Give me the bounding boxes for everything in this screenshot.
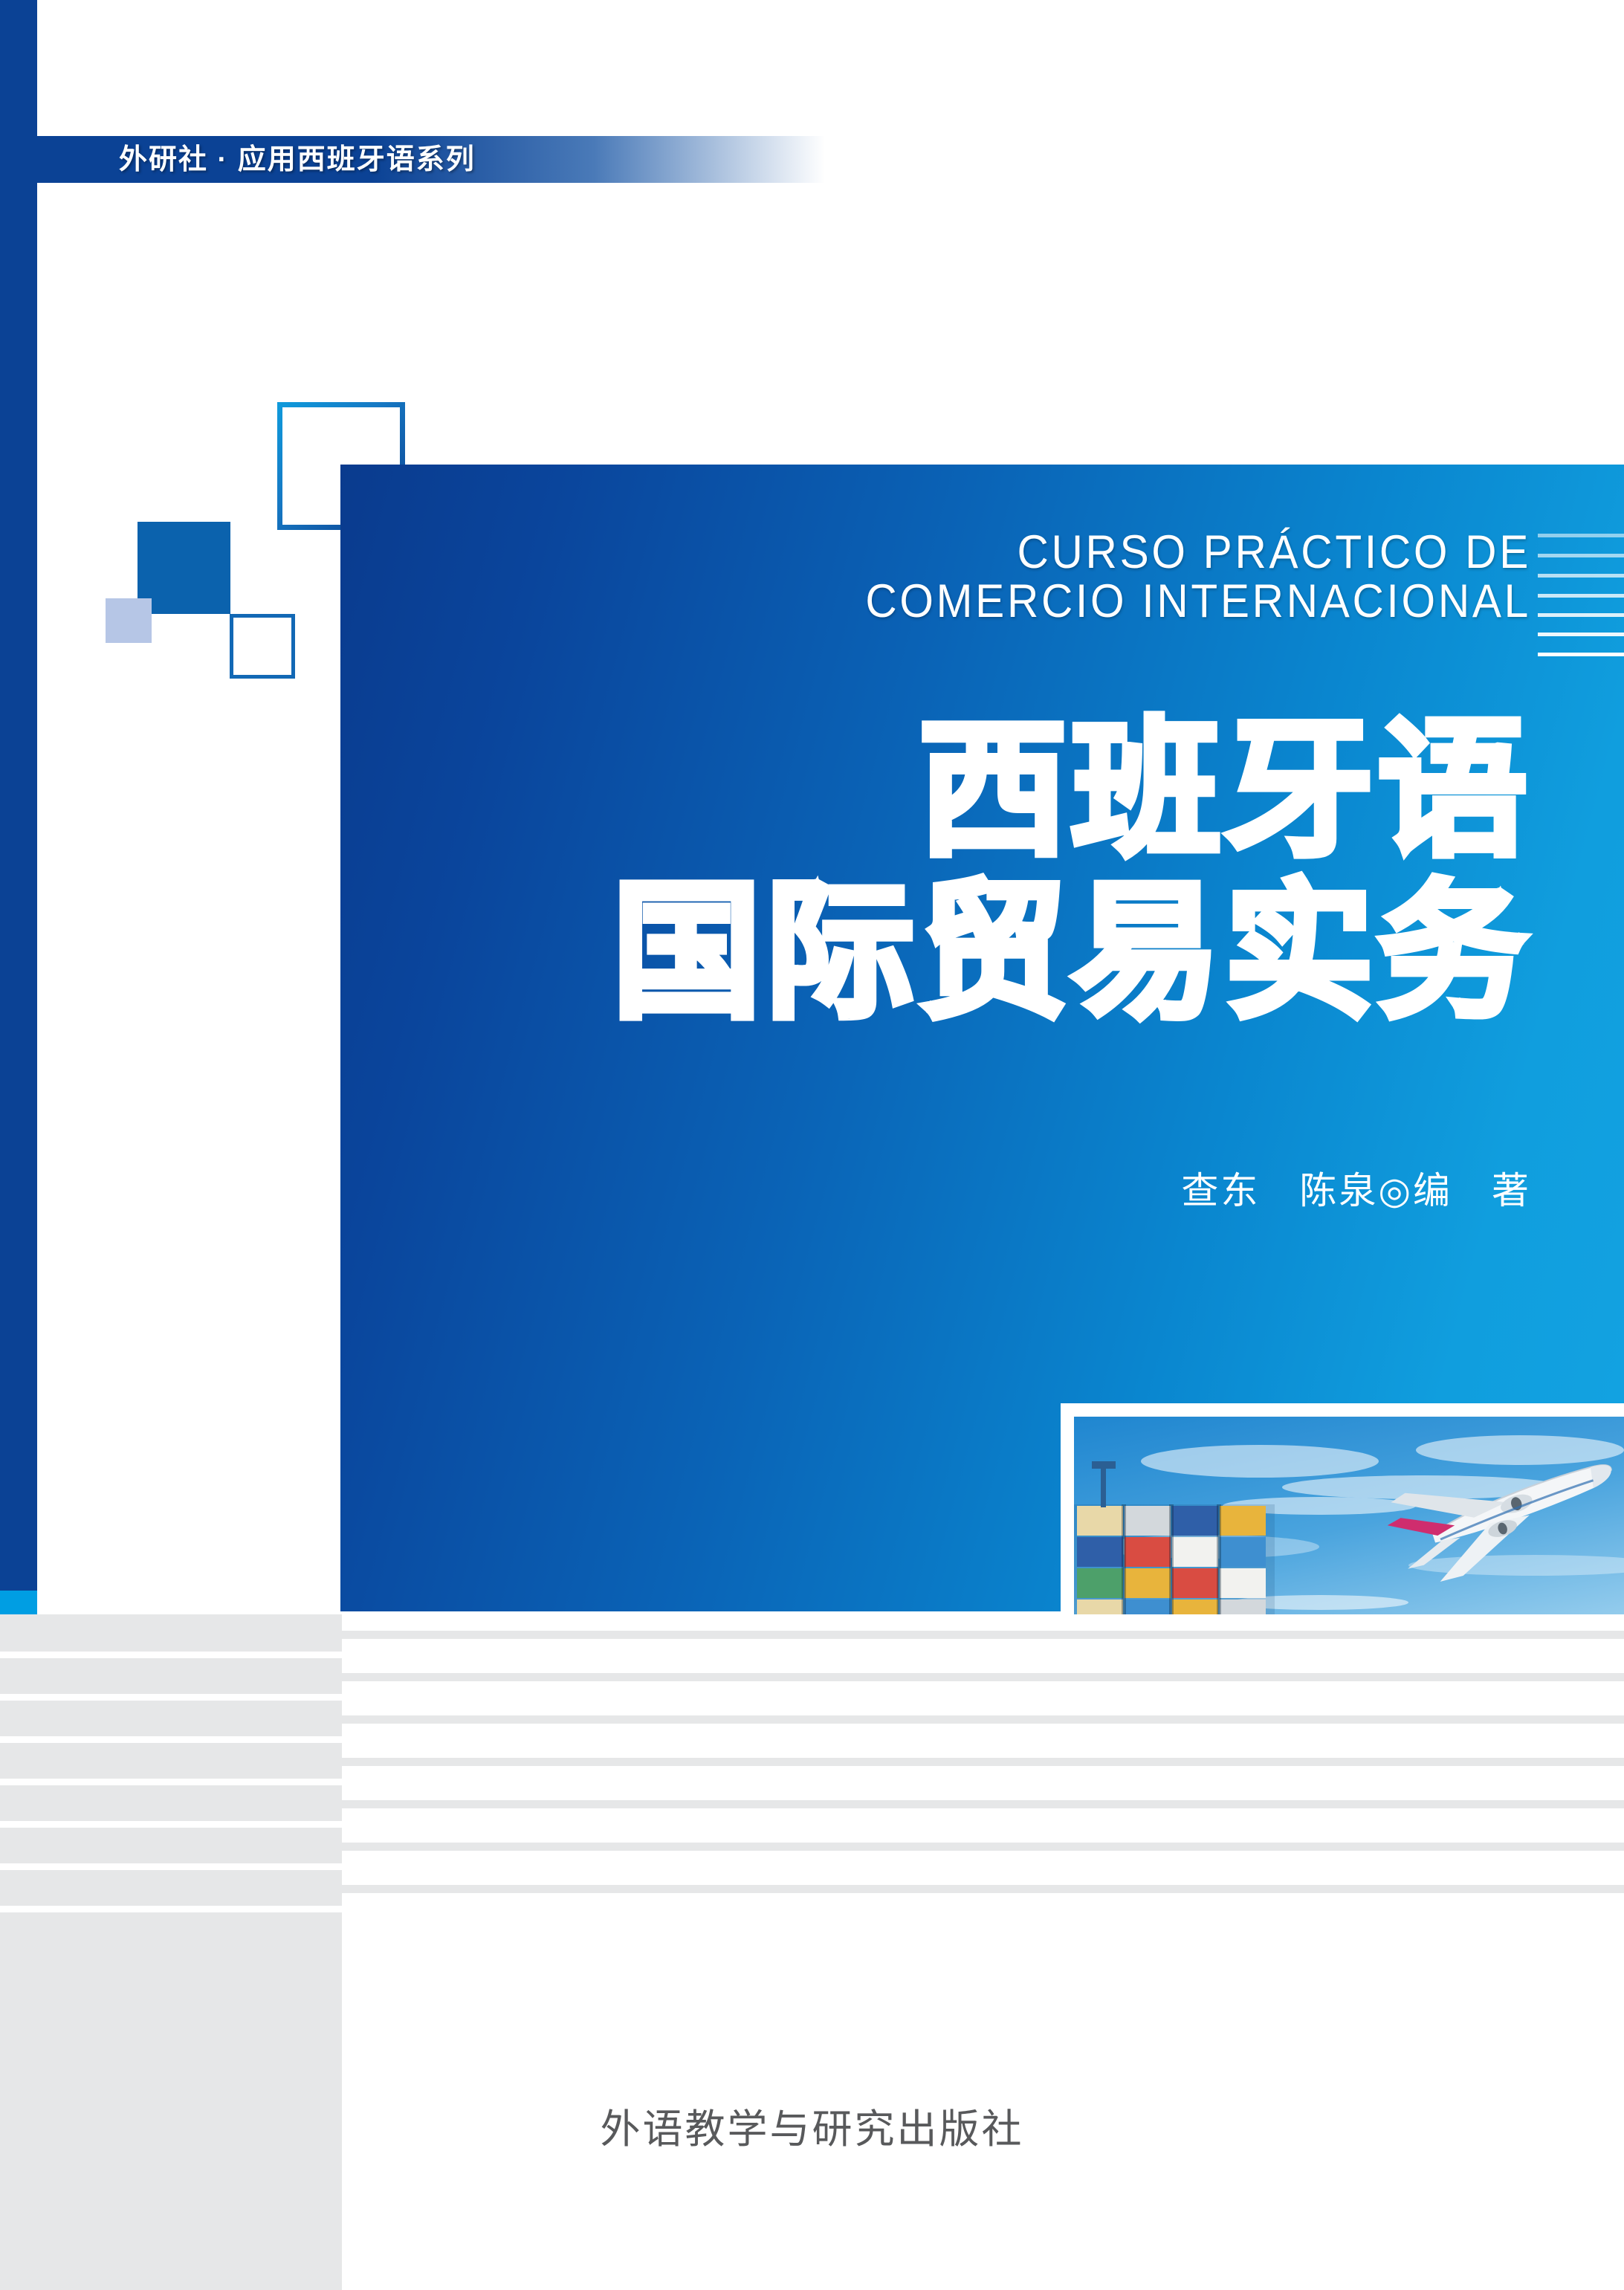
book-cover: 外研社 · 应用西班牙语系列 CURSO PRÁCTICO DE COMERCI… xyxy=(0,0,1624,2290)
bottom-stripes-left xyxy=(0,1614,342,2290)
series-banner-label: 外研社 · 应用西班牙语系列 xyxy=(119,141,788,178)
bottom-stripes-right xyxy=(342,1614,1624,2290)
decor-outline-square-small xyxy=(230,614,295,679)
chinese-title: 西班牙语 国际贸易实务 xyxy=(386,710,1531,1034)
spanish-title-line-1: CURSO PRÁCTICO DE xyxy=(453,528,1531,577)
spanish-title-line-2: COMERCIO INTERNACIONAL xyxy=(453,577,1531,626)
publisher-name: 外语教学与研究出版社 xyxy=(0,2096,1624,2155)
author-line: 查东 陈泉◎编 著 xyxy=(669,1168,1531,1213)
chinese-title-line-1: 西班牙语 xyxy=(386,710,1531,872)
decor-rule-lines xyxy=(1538,534,1624,664)
chinese-title-line-2: 国际贸易实务 xyxy=(386,872,1531,1034)
left-cyan-stripe-tip xyxy=(0,1591,37,1614)
decor-lavender-square xyxy=(106,598,152,643)
left-blue-stripe xyxy=(0,0,37,1591)
spanish-title: CURSO PRÁCTICO DE COMERCIO INTERNACIONAL xyxy=(453,528,1531,626)
